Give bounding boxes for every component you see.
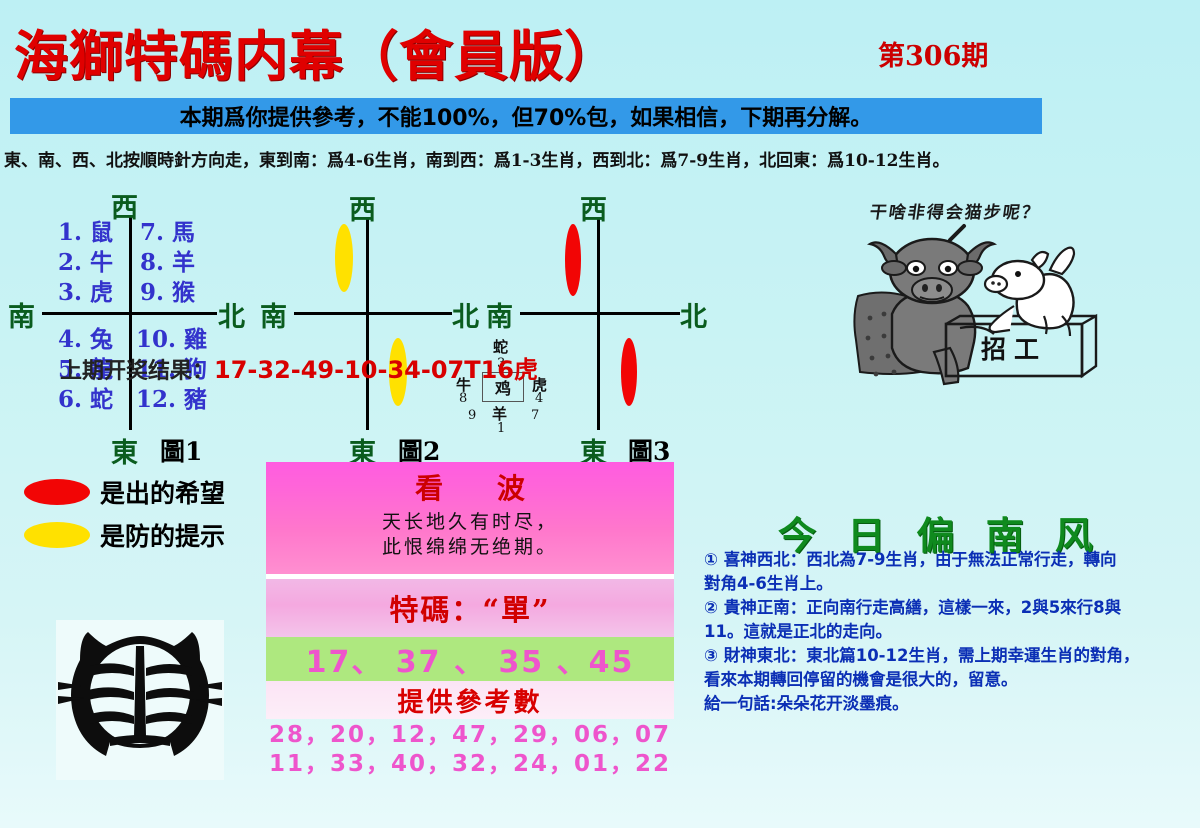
diagram-3-north-label: 北 — [680, 295, 707, 334]
diagram-1-west-label: 西 — [111, 186, 138, 225]
poster-root: 海獅特碼内幕（會員版） 第306期 本期爲你提供參考，不能100%，但70%包，… — [0, 0, 1200, 828]
diagram-1-east-label: 東 — [111, 431, 138, 470]
diagram-1-horizontal-axis — [42, 312, 217, 315]
diagram-2-vertical-axis — [366, 218, 369, 430]
center-panel: 看 波 天长地久有时尽， 此恨绵绵无绝期。 特碼：“單” 17、 37 、 35… — [266, 462, 674, 779]
diagram-1-figure-label: 圖1 — [160, 432, 202, 468]
tema-section: 特碼：“單” — [266, 579, 674, 637]
diagram-1-south-label: 南 — [8, 295, 35, 334]
cartoon-caption: 干啥非得会猫步呢？ — [868, 198, 1043, 223]
page-title: 海獅特碼内幕（會員版） — [14, 12, 619, 91]
diagram-2-horizontal-axis — [294, 312, 452, 315]
diagram-3-south-label: 南 — [486, 295, 513, 334]
diagram-2-south-label: 南 — [260, 295, 287, 334]
legend-red-label: 是出的希望 — [100, 474, 225, 510]
cat-seal-stamp — [56, 620, 224, 780]
last-result-line: 上期开奖结果：17-32-49-10-34-07T16虎 — [60, 350, 620, 385]
kanbo-section: 看 波 天长地久有时尽， 此恨绵绵无绝期。 — [266, 462, 674, 574]
reference-row-1: 28，20，12，47，29，06，07 — [266, 721, 674, 750]
wind-line-3: ② 貴神正南：正向南行走高繕，這樣一來，2與5來行8與 — [704, 596, 1194, 619]
diagram-1-vertical-axis — [129, 216, 132, 430]
legend-red-oval-icon — [24, 479, 90, 505]
legend-yellow-label: 是防的提示 — [100, 517, 225, 553]
cartoon-sign-text: 招工 — [981, 335, 1047, 364]
tema-value: 特碼：“單” — [389, 587, 550, 629]
diagram-2-marker-top — [335, 224, 353, 292]
reference-numbers-list: 28，20，12，47，29，06，07 11，33，40，32，24，01，2… — [266, 719, 674, 779]
main-numbers: 17、 37 、 35 、45 — [306, 637, 635, 681]
reference-title-section: 提供參考數 — [266, 681, 674, 719]
wind-line-4: 11。這就是正北的走向。 — [704, 620, 1194, 643]
reference-title: 提供參考數 — [397, 682, 542, 719]
kanbo-title: 看 波 — [266, 462, 674, 507]
notice-banner-text: 本期爲你提供參考，不能100%，但70%包，如果相信，下期再分解。 — [180, 100, 873, 132]
notice-banner: 本期爲你提供參考，不能100%，但70%包，如果相信，下期再分解。 — [10, 98, 1042, 134]
wind-line-5: ③ 財神東北：東北篇10-12生肖，需上期幸運生肖的對角， — [704, 644, 1194, 667]
issue-number: 第306期 — [878, 34, 988, 73]
diagram-1: 西 東 南 北 圖1 1. 鼠 2. 牛 3. 虎 7. 馬 8. 羊 9. 猴… — [0, 186, 256, 456]
diagram-3-vertical-axis — [597, 218, 600, 430]
diagram-3-marker-top — [565, 224, 581, 296]
legend-yellow-oval-icon — [24, 522, 90, 548]
legend-item-red: 是出的希望 — [24, 474, 225, 510]
diagram-3: 西 東 南 北 圖3 — [466, 186, 706, 456]
last-result-label: 上期开奖结果： — [60, 359, 214, 384]
main-numbers-section: 17、 37 、 35 、45 — [266, 637, 674, 681]
diagram-3-horizontal-axis — [520, 312, 680, 315]
rule-description: 東、南、西、北按順時針方向走，東到南：爲4-6生肖，南到西：爲1-3生肖，西到北… — [4, 146, 1196, 171]
legend-item-yellow: 是防的提示 — [24, 517, 225, 553]
wind-line-1: ① 喜神西北：西北為7-9生肖，由于無法正常行走，轉向 — [704, 548, 1194, 571]
poem-line-1: 天长地久有时尽， — [266, 510, 674, 535]
diagram-3-west-label: 西 — [580, 188, 607, 227]
last-result-value: 17-32-49-10-34-07T16虎 — [214, 356, 538, 384]
diagram-1-north-label: 北 — [218, 295, 245, 334]
cat-seal-icon — [56, 620, 224, 780]
diagram-1-zodiac-7-9: 7. 馬 8. 羊 9. 猴 — [140, 218, 195, 308]
wind-line-2: 對角4-6生肖上。 — [704, 572, 1194, 595]
diagram-3-marker-bottom — [621, 338, 637, 406]
poem-line-2: 此恨绵绵无绝期。 — [266, 535, 674, 560]
diagram-1-zodiac-1-3: 1. 鼠 2. 牛 3. 虎 — [58, 218, 113, 308]
wind-body: ① 喜神西北：西北為7-9生肖，由于無法正常行走，轉向 對角4-6生肖上。 ② … — [704, 548, 1194, 716]
reference-row-2: 11，33，40，32，24，01，22 — [266, 750, 674, 779]
diagram-2-west-label: 西 — [349, 188, 376, 227]
wind-line-7: 給一句話:朵朵花开淡墨痕。 — [704, 692, 1194, 715]
wind-line-6: 看來本期轉回停留的機會是很大的，留意。 — [704, 668, 1194, 691]
cartoon-illustration: 干啥非得会猫步呢？ — [846, 196, 1166, 411]
diagram-2: 西 東 南 北 圖2 — [256, 186, 466, 456]
cartoon-svg: 招工 — [846, 196, 1166, 411]
